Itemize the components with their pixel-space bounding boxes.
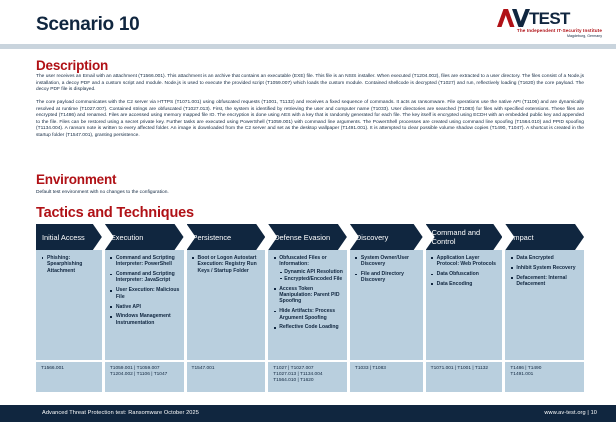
logo-location: Magdeburg, Germany (497, 34, 602, 38)
technique-id-line: T1204.002 | T1106 | T1047 (110, 372, 181, 378)
technique-id-line: T1491.001 (510, 372, 581, 378)
tactic-column-header[interactable]: Discovery (350, 224, 423, 250)
tactics-table: Initial AccessPhishing: Spearphishing At… (36, 224, 584, 394)
technique-item[interactable]: Obfuscated Files or Information:Dynamic … (273, 255, 343, 282)
technique-item-label: User Execution: Malicious File (116, 287, 179, 299)
technique-item-label: Data Encrypted (516, 255, 553, 261)
technique-item-label: File and Directory Discovery (361, 271, 404, 283)
tactic-column: Initial AccessPhishing: Spearphishing At… (36, 224, 102, 394)
tactic-technique-list: Application Layer Protocol: Web Protocol… (426, 250, 503, 360)
logo-tagline: The Independent IT-Security Institute (497, 28, 602, 33)
technique-item[interactable]: Command and Scripting Interpreter: JavaS… (110, 271, 180, 284)
page-footer: Advanced Threat Protection test: Ransomw… (0, 405, 616, 422)
technique-id-line: T1566.001 (41, 366, 99, 372)
av-test-logo: TEST The Independent IT-Security Institu… (497, 9, 602, 39)
technique-item-label: Access Token Manipulation: Parent PID Sp… (279, 286, 339, 305)
technique-item-label: Defacement: Internal Defacement (516, 275, 566, 287)
tactic-column: DiscoverySystem Owner/User DiscoveryFile… (350, 224, 423, 394)
technique-item[interactable]: Hide Artifacts: Process Argument Spoofin… (273, 308, 343, 321)
technique-item[interactable]: Windows Management Instrumentation (110, 313, 180, 326)
technique-item[interactable]: Native API (110, 304, 180, 310)
tactics-heading: Tactics and Techniques (36, 205, 194, 221)
tactic-column: Defense EvasionObfuscated Files or Infor… (268, 224, 347, 394)
header-divider (0, 44, 616, 49)
technique-item-label: Phishing: Spearphishing Attachment (47, 255, 82, 274)
technique-items: Obfuscated Files or Information:Dynamic … (273, 255, 343, 331)
technique-items: Command and Scripting Interpreter: Power… (110, 255, 180, 326)
environment-heading: Environment (36, 172, 116, 187)
tactic-technique-list: Command and Scripting Interpreter: Power… (105, 250, 184, 360)
technique-id-list: T1486 | T1490T1491.001 (505, 362, 584, 392)
technique-id-list: T1059.001 | T1059.007T1204.002 | T1106 |… (105, 362, 184, 392)
tactic-technique-list: Obfuscated Files or Information:Dynamic … (268, 250, 347, 360)
tactic-technique-list: Boot or Logon Autostart Execution: Regis… (187, 250, 266, 360)
description-paragraph-1: The user receives an Email with an attac… (36, 74, 584, 94)
technique-item[interactable]: Phishing: Spearphishing Attachment (41, 255, 98, 274)
technique-item-label: Native API (116, 304, 141, 310)
tactic-column-header[interactable]: Command and Control (426, 224, 503, 250)
logo-top-row: TEST (497, 9, 602, 27)
tactic-technique-list: Phishing: Spearphishing Attachment (36, 250, 102, 360)
page-title: Scenario 10 (36, 14, 139, 36)
tactic-column: ExecutionCommand and Scripting Interpret… (105, 224, 184, 394)
technique-id-line: T1547.001 (192, 366, 263, 372)
technique-id-line: T1071.001 | T1001 | T1132 (431, 366, 500, 372)
technique-item[interactable]: Data Encoding (431, 281, 499, 287)
tactic-technique-list: System Owner/User DiscoveryFile and Dire… (350, 250, 423, 360)
footer-url-page: www.av-test.org | 10 (544, 410, 597, 416)
tactic-column: Command and ControlApplication Layer Pro… (426, 224, 503, 394)
tactics-columns: Initial AccessPhishing: Spearphishing At… (36, 224, 584, 394)
technique-item-label: Application Layer Protocol: Web Protocol… (437, 255, 496, 267)
technique-item-label: Data Encoding (437, 281, 473, 287)
technique-subitem[interactable]: Dynamic API Resolution (279, 269, 343, 275)
tactic-column: ImpactData EncryptedInhibit System Recov… (505, 224, 584, 394)
technique-items: Boot or Logon Autostart Execution: Regis… (192, 255, 262, 274)
tactic-column-header[interactable]: Initial Access (36, 224, 102, 250)
tactic-column-header[interactable]: Persistence (187, 224, 266, 250)
technique-items: Data EncryptedInhibit System RecoveryDef… (510, 255, 580, 287)
technique-item-label: Windows Management Instrumentation (116, 313, 171, 325)
technique-subitem[interactable]: Encrypted/Encoded File (279, 276, 343, 282)
technique-id-list: T1071.001 | T1001 | T1132 (426, 362, 503, 392)
technique-item[interactable]: Boot or Logon Autostart Execution: Regis… (192, 255, 262, 274)
technique-id-line: T1033 | T1083 (355, 366, 420, 372)
technique-item[interactable]: Defacement: Internal Defacement (510, 275, 580, 288)
technique-item-label: Hide Artifacts: Process Argument Spoofin… (279, 308, 335, 320)
tactic-technique-list: Data EncryptedInhibit System RecoveryDef… (505, 250, 584, 360)
av-logo-mark-icon (497, 9, 530, 27)
technique-item[interactable]: File and Directory Discovery (355, 271, 419, 284)
technique-id-line: T1564.010 | T1620 (273, 378, 344, 384)
technique-id-list: T1027 | T1027.007T1027.013 | T1134.004T1… (268, 362, 347, 392)
technique-item[interactable]: User Execution: Malicious File (110, 287, 180, 300)
technique-subitems: Dynamic API ResolutionEncrypted/Encoded … (279, 269, 343, 282)
footer-test-name: Advanced Threat Protection test: Ransomw… (42, 410, 199, 416)
description-heading: Description (36, 58, 108, 73)
technique-id-list: T1566.001 (36, 362, 102, 392)
technique-item-label: Command and Scripting Interpreter: Power… (116, 255, 175, 267)
technique-item[interactable]: Data Obfuscation (431, 271, 499, 277)
page-header: Scenario 10 TEST The Independent IT-Secu… (0, 0, 616, 44)
technique-item[interactable]: Access Token Manipulation: Parent PID Sp… (273, 286, 343, 305)
technique-item[interactable]: Application Layer Protocol: Web Protocol… (431, 255, 499, 268)
technique-item-label: Command and Scripting Interpreter: JavaS… (116, 271, 175, 283)
slide-page: Scenario 10 TEST The Independent IT-Secu… (0, 0, 616, 429)
environment-text: Default test environment with no changes… (36, 190, 584, 197)
technique-id-list: T1547.001 (187, 362, 266, 392)
description-paragraph-2: The core payload communicates with the C… (36, 100, 584, 140)
technique-id-list: T1033 | T1083 (350, 362, 423, 392)
technique-item-label: Data Obfuscation (437, 271, 479, 277)
tactic-column-header[interactable]: Impact (505, 224, 584, 250)
tactic-column-header[interactable]: Defense Evasion (268, 224, 347, 250)
technique-items: Phishing: Spearphishing Attachment (41, 255, 98, 274)
technique-item[interactable]: Inhibit System Recovery (510, 265, 580, 271)
technique-items: Application Layer Protocol: Web Protocol… (431, 255, 499, 287)
logo-wordmark: TEST (529, 10, 570, 27)
tactic-column: PersistenceBoot or Logon Autostart Execu… (187, 224, 266, 394)
technique-item-label: Boot or Logon Autostart Execution: Regis… (198, 255, 257, 274)
technique-item-label: Obfuscated Files or Information: (279, 255, 327, 267)
technique-item[interactable]: Reflective Code Loading (273, 324, 343, 330)
technique-item[interactable]: Command and Scripting Interpreter: Power… (110, 255, 180, 268)
technique-item-label: Reflective Code Loading (279, 324, 338, 330)
tactic-column-header[interactable]: Execution (105, 224, 184, 250)
technique-item-label: System Owner/User Discovery (361, 255, 409, 267)
technique-item[interactable]: System Owner/User Discovery (355, 255, 419, 268)
technique-items: System Owner/User DiscoveryFile and Dire… (355, 255, 419, 284)
technique-item-label: Inhibit System Recovery (516, 265, 575, 271)
technique-item[interactable]: Data Encrypted (510, 255, 580, 261)
